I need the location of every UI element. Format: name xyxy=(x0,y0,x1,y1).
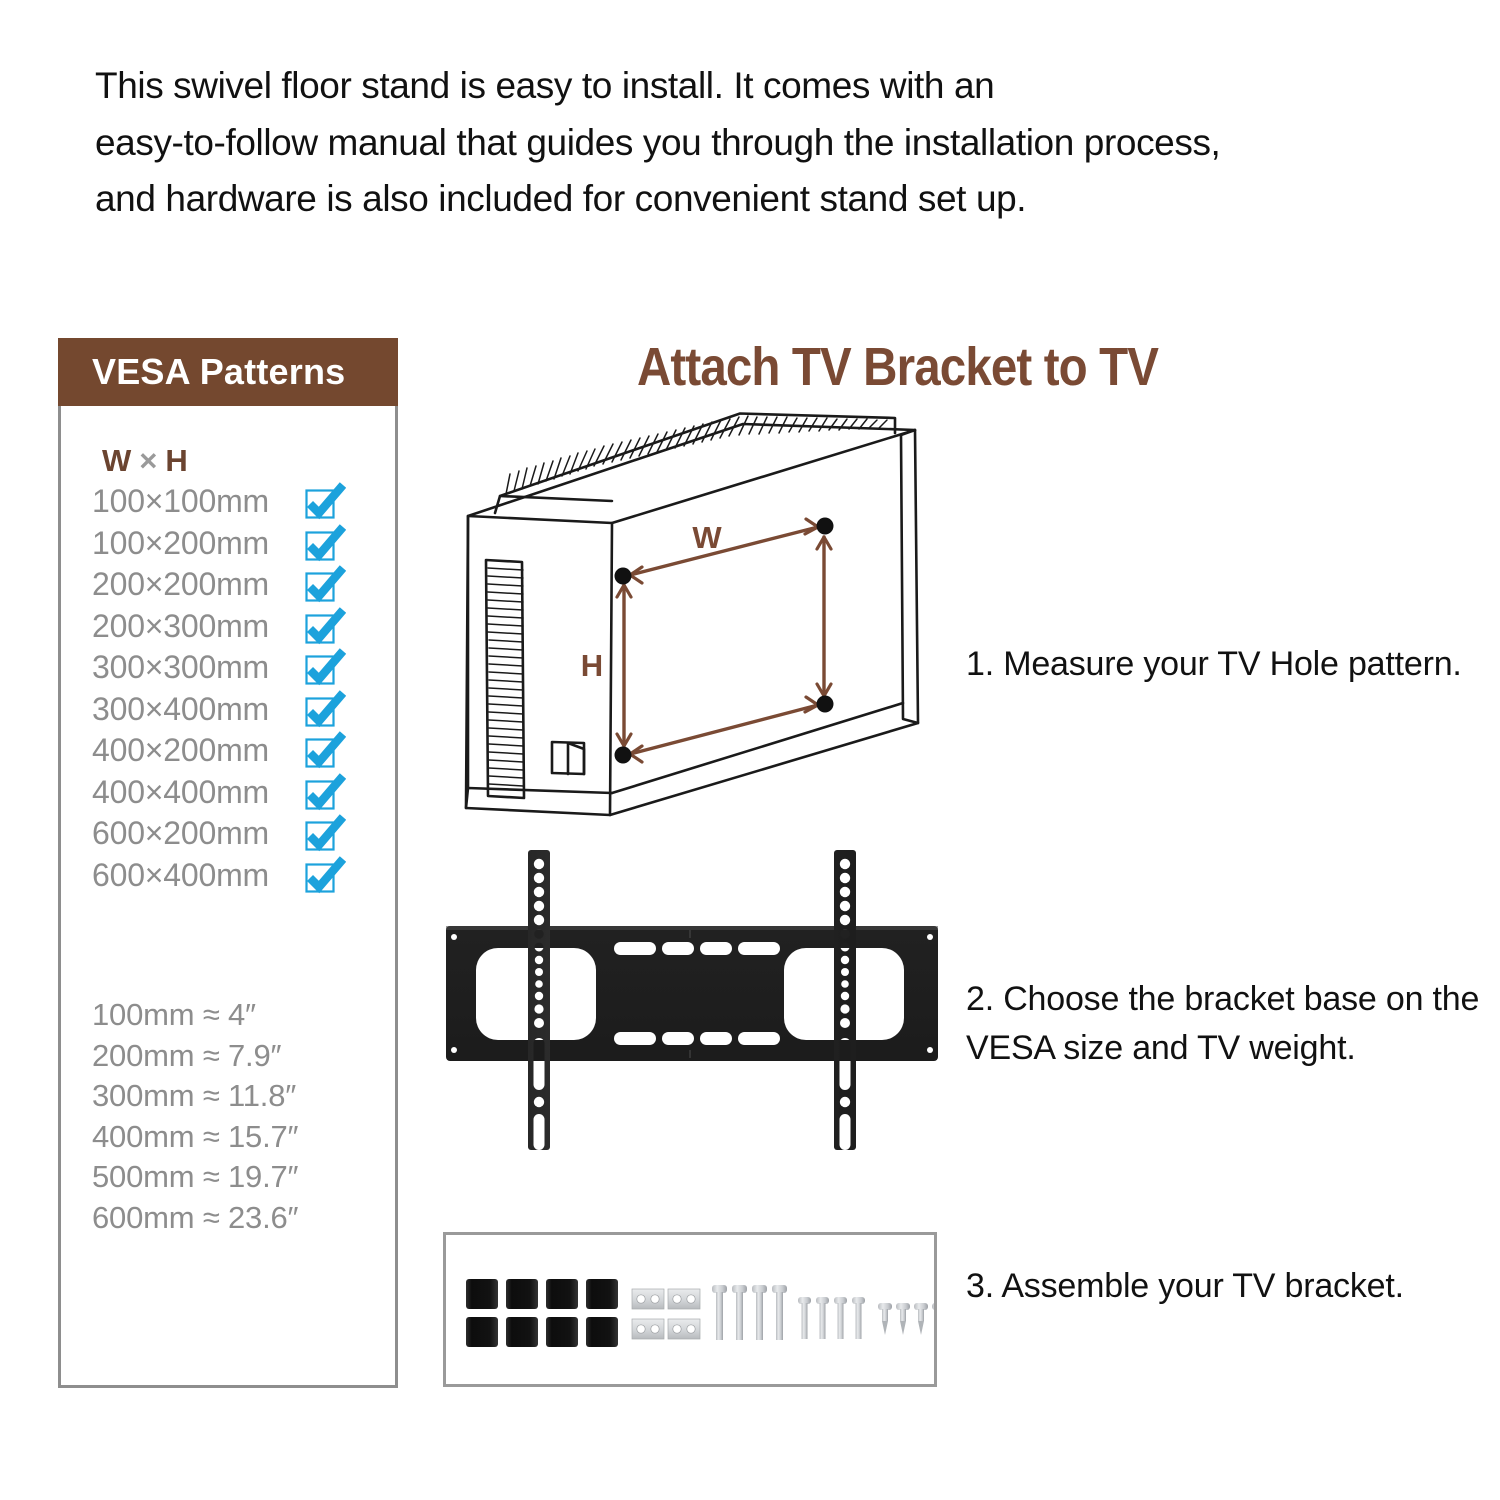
vesa-pattern-label: 300×400mm xyxy=(92,691,269,728)
step-1-line-1: 1. Measure your TV Hole pattern. xyxy=(966,640,1486,689)
mm-to-inch-conversion-list: 100mm ≈ 4″200mm ≈ 7.9″300mm ≈ 11.8″400mm… xyxy=(92,995,367,1238)
hardware-illustration-svg xyxy=(446,1235,934,1384)
tv-hole-pattern-diagram: W H xyxy=(440,408,950,853)
vesa-pattern-label: 600×400mm xyxy=(92,857,269,894)
vesa-pattern-label: 300×300mm xyxy=(92,649,269,686)
short-screw-group xyxy=(878,1303,934,1335)
column-header-h: H xyxy=(165,443,188,478)
checkmark-icon[interactable] xyxy=(304,524,346,564)
intro-line-1: This swivel floor stand is easy to insta… xyxy=(95,58,1455,115)
column-header-times: × xyxy=(132,443,165,478)
conversion-row: 300mm ≈ 11.8″ xyxy=(92,1076,367,1117)
hardware-kit-box xyxy=(443,1232,937,1387)
vesa-column-header: W×H xyxy=(102,443,189,479)
vesa-pattern-label: 100×100mm xyxy=(92,483,269,520)
vesa-pattern-row[interactable]: 100×200mm xyxy=(92,525,367,567)
mounting-hole-dots xyxy=(615,518,834,764)
vesa-pattern-label: 100×200mm xyxy=(92,525,269,562)
height-label: H xyxy=(581,648,603,683)
vesa-pattern-label: 400×200mm xyxy=(92,732,269,769)
checkmark-icon[interactable] xyxy=(304,482,346,522)
step-3-line-1: 3. Assemble your TV bracket. xyxy=(966,1262,1486,1311)
vesa-pattern-list: 100×100mm100×200mm200×200mm200×300mm300×… xyxy=(92,483,367,898)
intro-line-3: and hardware is also included for conven… xyxy=(95,171,1455,228)
tv-wall-bracket-image xyxy=(432,840,952,1162)
spacer-group xyxy=(466,1279,618,1347)
vesa-pattern-row[interactable]: 400×400mm xyxy=(92,774,367,816)
vesa-pattern-label: 200×200mm xyxy=(92,566,269,603)
vesa-panel-title: VESA Patterns xyxy=(58,351,345,393)
checkmark-icon[interactable] xyxy=(304,690,346,730)
vesa-pattern-row[interactable]: 600×200mm xyxy=(92,815,367,857)
medium-bolt-group xyxy=(798,1297,865,1339)
checkmark-icon[interactable] xyxy=(304,731,346,771)
checkmark-icon[interactable] xyxy=(304,565,346,605)
vesa-pattern-label: 200×300mm xyxy=(92,608,269,645)
conversion-row: 500mm ≈ 19.7″ xyxy=(92,1157,367,1198)
infographic-canvas: This swivel floor stand is easy to insta… xyxy=(0,0,1500,1500)
checkmark-icon[interactable] xyxy=(304,773,346,813)
vesa-pattern-row[interactable]: 300×300mm xyxy=(92,649,367,691)
vesa-pattern-row[interactable]: 200×200mm xyxy=(92,566,367,608)
step-2-line-1: 2. Choose the bracket base on the xyxy=(966,975,1496,1024)
tv-illustration-svg: W H xyxy=(440,408,950,853)
intro-paragraph: This swivel floor stand is easy to insta… xyxy=(95,58,1455,228)
checkmark-icon[interactable] xyxy=(304,648,346,688)
conversion-row: 400mm ≈ 15.7″ xyxy=(92,1117,367,1158)
intro-line-2: easy-to-follow manual that guides you th… xyxy=(95,115,1455,172)
step-1-caption: 1. Measure your TV Hole pattern. xyxy=(966,640,1486,689)
width-label: W xyxy=(692,520,722,555)
column-header-w: W xyxy=(102,443,132,478)
vesa-pattern-row[interactable]: 300×400mm xyxy=(92,691,367,733)
checkmark-icon[interactable] xyxy=(304,856,346,896)
page-title: Attach TV Bracket to TV xyxy=(637,336,1158,398)
conversion-row: 100mm ≈ 4″ xyxy=(92,995,367,1036)
vesa-pattern-label: 400×400mm xyxy=(92,774,269,811)
bracket-arm-right xyxy=(432,840,952,1162)
conversion-row: 200mm ≈ 7.9″ xyxy=(92,1036,367,1077)
conversion-row: 600mm ≈ 23.6″ xyxy=(92,1198,367,1239)
step-2-caption: 2. Choose the bracket base on the VESA s… xyxy=(966,975,1496,1074)
mounting-plate-group xyxy=(632,1289,700,1339)
vesa-pattern-label: 600×200mm xyxy=(92,815,269,852)
bracket-illustration-svg xyxy=(432,840,952,1162)
vesa-pattern-row[interactable]: 200×300mm xyxy=(92,608,367,650)
vesa-pattern-row[interactable]: 600×400mm xyxy=(92,857,367,899)
step-2-line-2: VESA size and TV weight. xyxy=(966,1024,1496,1073)
vesa-pattern-row[interactable]: 400×200mm xyxy=(92,732,367,774)
long-bolt-group xyxy=(712,1285,787,1340)
checkmark-icon[interactable] xyxy=(304,814,346,854)
vesa-pattern-row[interactable]: 100×100mm xyxy=(92,483,367,525)
step-3-caption: 3. Assemble your TV bracket. xyxy=(966,1262,1486,1311)
vesa-panel-header: VESA Patterns xyxy=(58,338,398,406)
checkmark-icon[interactable] xyxy=(304,607,346,647)
